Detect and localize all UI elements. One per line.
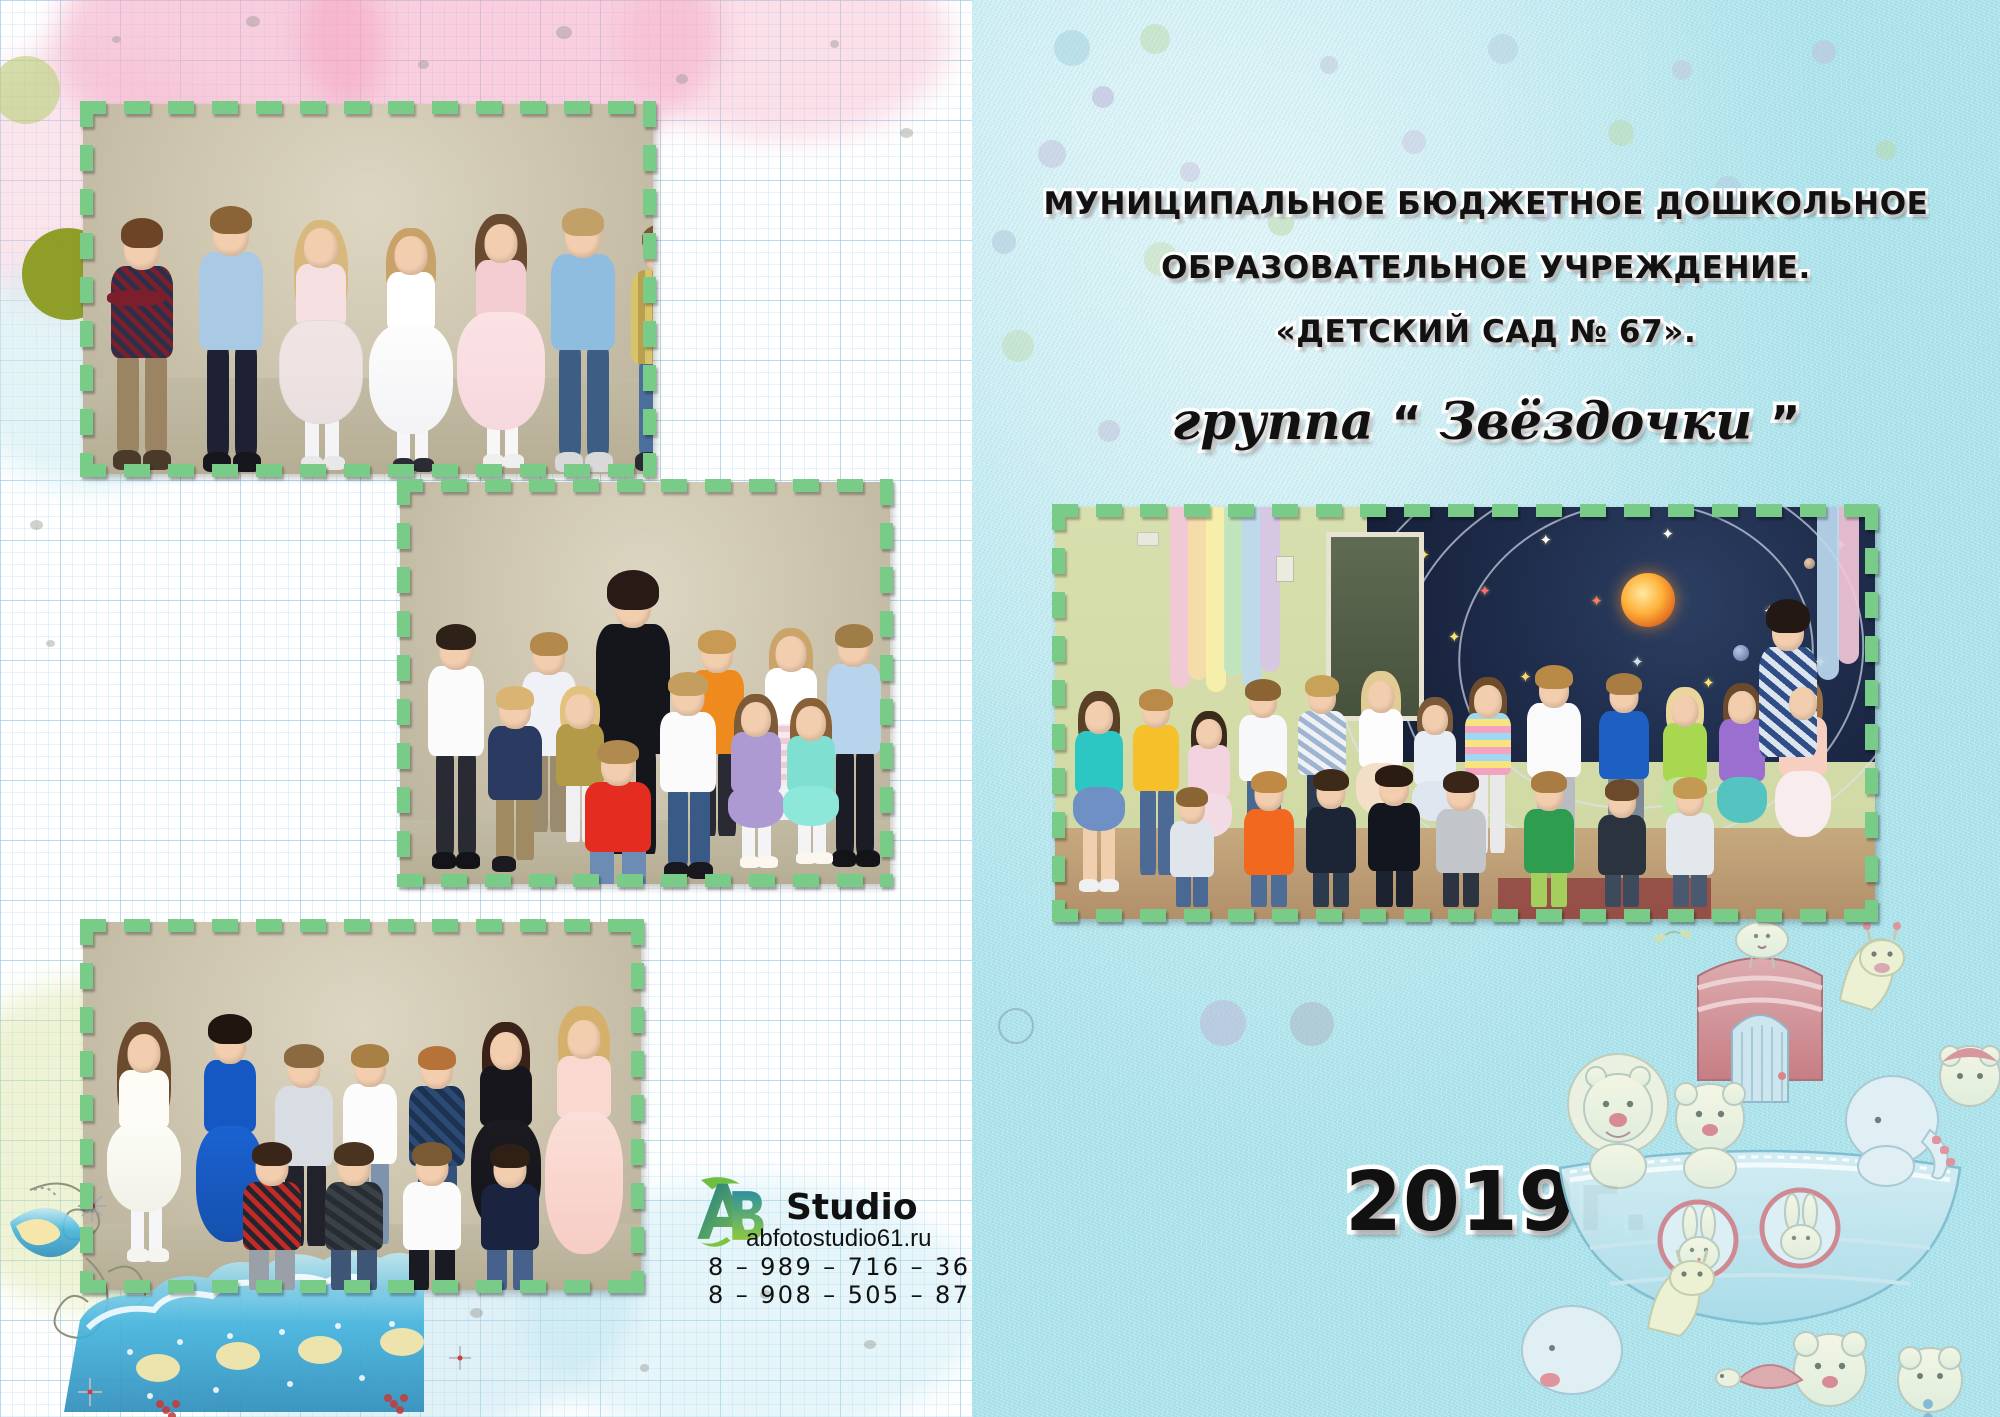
studio-name: Studio: [786, 1187, 918, 1228]
left-page: Studio abfotostudio61.ru 8 – 989 – 716 –…: [0, 0, 972, 1417]
group-name-line: группа “ Звёздочки ”: [972, 392, 2000, 452]
heading-line-2: ОБРАЗОВАТЕЛЬНОЕ УЧРЕЖДЕНИЕ.: [972, 250, 2000, 286]
main-group-photo-frame[interactable]: ✦ ✦ ✦ ✦ ✦ ✦ ✦ ✦ ✦ ✦ ✦ ✦: [1055, 507, 1875, 919]
group-prefix: группа: [1172, 392, 1374, 452]
wall-vent: [1137, 532, 1159, 546]
rainbow-curtain: [1170, 507, 1190, 688]
quote-close: ”: [1770, 396, 1800, 450]
studio-phone-1[interactable]: 8 – 989 – 716 – 36 – 34: [708, 1253, 972, 1281]
photo-top-image: [83, 104, 653, 474]
quote-open: “: [1392, 396, 1422, 450]
studio-website[interactable]: abfotostudio61.ru: [746, 1225, 931, 1253]
main-group-photo-image: ✦ ✦ ✦ ✦ ✦ ✦ ✦ ✦ ✦ ✦ ✦ ✦: [1055, 507, 1875, 919]
noahs-ark-illustration: [1500, 880, 2000, 1417]
photo-bottom-frame[interactable]: [83, 922, 641, 1290]
group-name: Звёздочки: [1440, 392, 1753, 452]
photo-bottom-image: [83, 922, 641, 1290]
photo-top-frame[interactable]: [83, 104, 653, 474]
album-spread: Studio abfotostudio61.ru 8 – 989 – 716 –…: [0, 0, 2000, 1417]
heading-line-1: МУНИЦИПАЛЬНОЕ БЮДЖЕТНОЕ ДОШКОЛЬНОЕ: [972, 186, 2000, 222]
heading-line-3: «ДЕТСКИЙ САД № 67».: [972, 314, 2000, 350]
studio-phone-2[interactable]: 8 – 908 – 505 – 87 – 34: [708, 1281, 972, 1309]
photo-middle-frame[interactable]: [400, 482, 890, 884]
studio-credit-block: Studio abfotostudio61.ru 8 – 989 – 716 –…: [690, 1165, 940, 1295]
photo-middle-image: [400, 482, 890, 884]
wall-poster: [1276, 556, 1294, 582]
